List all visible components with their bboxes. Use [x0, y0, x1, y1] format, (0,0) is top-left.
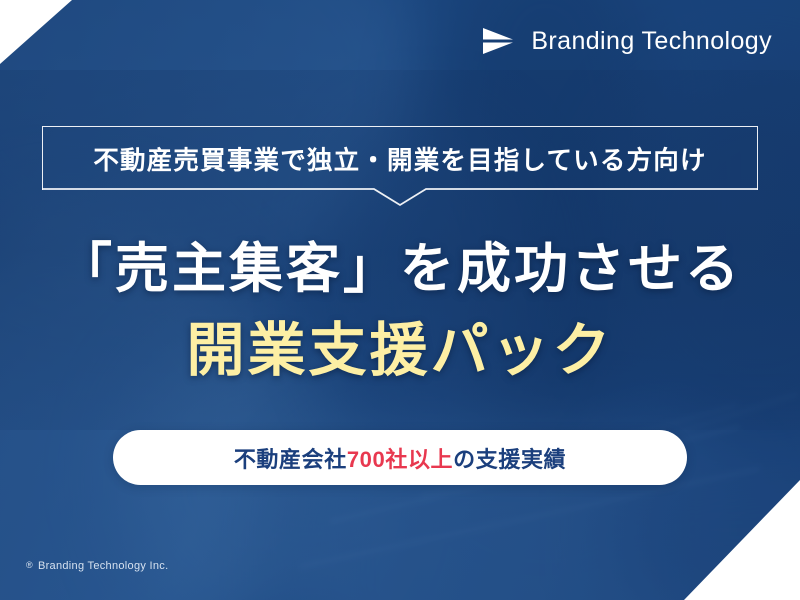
achievement-badge-text: 不動産会社700社以上の支援実績 [234, 442, 566, 474]
registered-mark-icon: ® [26, 560, 33, 570]
footer-copyright: ® Branding Technology Inc. [26, 560, 168, 572]
headline-text: 不動産売買事業で独立・開業を目指している方向け [42, 126, 758, 190]
footer-copyright-text: Branding Technology Inc. [38, 560, 169, 572]
brand-logo-text: Branding Technology [531, 27, 772, 56]
arrow-mark-icon [481, 26, 515, 56]
title-line-2: 開業支援パック [0, 303, 800, 387]
badge-suffix: の支援実績 [453, 447, 566, 472]
slide-root: Branding Technology 不動産売買事業で独立・開業を目指している… [0, 0, 800, 600]
badge-prefix: 不動産会社 [234, 447, 347, 472]
achievement-badge: 不動産会社700社以上の支援実績 [113, 430, 687, 485]
title-line-1: 「売主集客」を成功させる [0, 224, 800, 303]
badge-highlight-count: 700社以上 [347, 447, 453, 472]
brand-logo: Branding Technology [481, 26, 772, 56]
